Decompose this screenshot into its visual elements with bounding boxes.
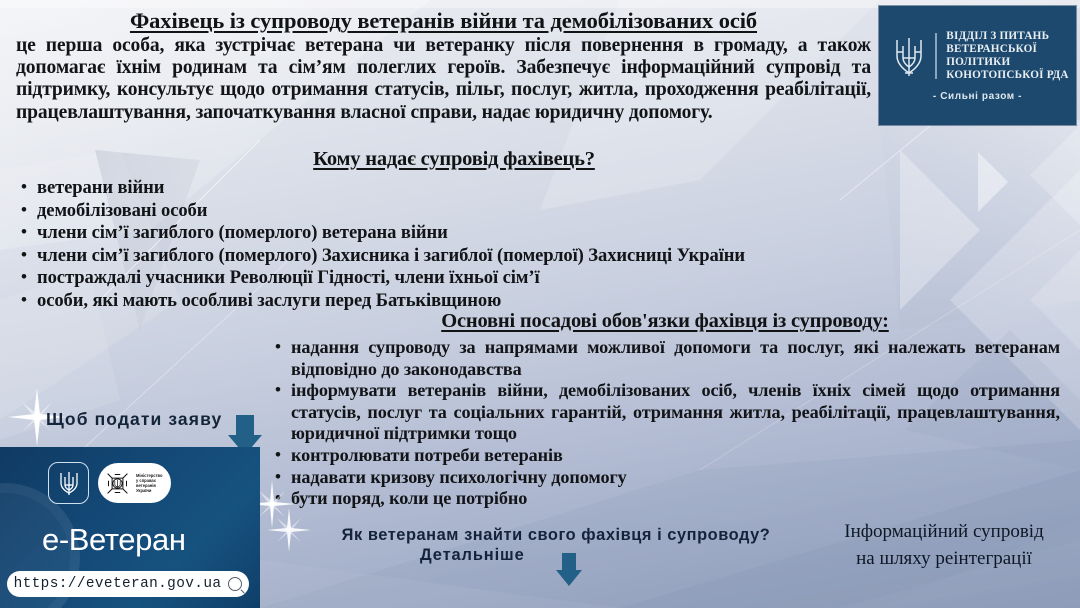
org-line-4: КОНОТОПСЬКОЇ РДА xyxy=(946,69,1068,82)
list-item: постраждалі учасники Революції Гідності,… xyxy=(14,267,894,290)
org-line-2: ВЕТЕРАНСЬКОЇ xyxy=(946,43,1068,56)
duties-section: Основні посадові обов'язки фахівця із су… xyxy=(270,310,1060,510)
eveteran-app-name: е-Ветеран xyxy=(42,522,186,558)
card-logos: Міністерство у справах ветеранів України xyxy=(48,462,171,504)
list-item: інформувати ветеранів війни, демобілізов… xyxy=(270,380,1060,445)
ministry-name: Міністерство у справах ветеранів України xyxy=(136,473,162,493)
intro-paragraph: це перша особа, яка зустрічає ветерана ч… xyxy=(16,35,871,124)
list-item: демобілізовані особи xyxy=(14,200,894,223)
list-item: члени сім’ї загиблого (померлого) ветера… xyxy=(14,222,894,245)
page-title: Фахівець із супроводу ветеранів війни та… xyxy=(16,8,871,34)
duties-list: надання супроводу за напрямами можливої … xyxy=(270,337,1060,510)
organization-slogan: - Сильні разом - xyxy=(933,91,1022,102)
find-specialist-more-label: Детальніше xyxy=(420,546,525,565)
eveteran-url-text: https://eveteran.gov.ua xyxy=(14,576,222,592)
eveteran-url-bar[interactable]: https://eveteran.gov.ua xyxy=(7,571,249,597)
list-item: бути поряд, коли це потрібно xyxy=(270,488,1060,510)
logo-divider xyxy=(935,33,937,79)
apply-label: Щоб подати заяву xyxy=(46,409,222,430)
reintegration-line-1: Інформаційний супровід xyxy=(810,518,1078,545)
find-specialist-question: Як ветеранам знайти свого фахівця і супр… xyxy=(296,524,816,546)
ministry-of-veterans-emblem-icon xyxy=(104,470,131,497)
reintegration-note: Інформаційний супровід на шляху реінтегр… xyxy=(810,518,1078,572)
list-item: надавати кризову психологічну допомогу xyxy=(270,467,1060,489)
ministry-of-veterans-logo: Міністерство у справах ветеранів України xyxy=(98,463,171,503)
list-item: контролювати потреби ветеранів xyxy=(270,445,1060,467)
reintegration-line-2: на шляху реінтеграції xyxy=(810,545,1078,572)
list-item: ветерани війни xyxy=(14,177,894,200)
who-list: ветерани війни демобілізовані особи член… xyxy=(14,177,894,313)
organization-name: ВІДДІЛ З ПИТАНЬ ВЕТЕРАНСЬКОЇ ПОЛІТИКИ КО… xyxy=(946,30,1068,82)
who-section-heading: Кому надає супровід фахівець? xyxy=(14,148,894,171)
org-line-1: ВІДДІЛ З ПИТАНЬ xyxy=(946,30,1068,43)
arrow-down-icon xyxy=(556,553,582,586)
ukraine-trident-icon xyxy=(892,32,926,80)
organization-logo: ВІДДІЛ З ПИТАНЬ ВЕТЕРАНСЬКОЇ ПОЛІТИКИ КО… xyxy=(879,6,1076,125)
search-icon xyxy=(228,577,242,591)
org-line-3: ПОЛІТИКИ xyxy=(946,56,1068,69)
list-item: надання супроводу за напрямами можливої … xyxy=(270,337,1060,380)
poster-slide: ВІДДІЛ З ПИТАНЬ ВЕТЕРАНСЬКОЇ ПОЛІТИКИ КО… xyxy=(0,0,1080,608)
headline-block: Фахівець із супроводу ветеранів війни та… xyxy=(16,8,871,124)
who-section: Кому надає супровід фахівець? ветерани в… xyxy=(14,148,894,313)
ukraine-trident-icon xyxy=(48,462,89,504)
list-item: члени сім’ї загиблого (померлого) Захисн… xyxy=(14,245,894,268)
duties-section-heading: Основні посадові обов'язки фахівця із су… xyxy=(270,310,1060,333)
eveteran-promo-card[interactable]: Міністерство у справах ветеранів України… xyxy=(0,447,260,608)
